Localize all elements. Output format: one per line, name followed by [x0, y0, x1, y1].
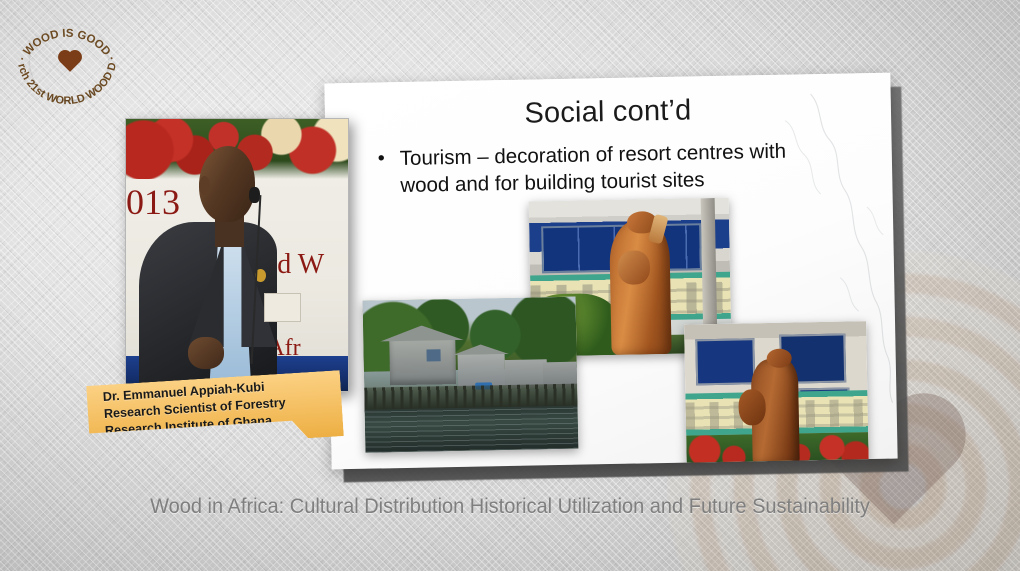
- presentation-footer-title: Wood in Africa: Cultural Distribution Hi…: [36, 494, 985, 519]
- slide-bullet-text: Tourism – decoration of resort centres w…: [400, 137, 839, 200]
- speaker-photo[interactable]: 013 World W posiu in Afr: [125, 118, 349, 392]
- slide-bullet-item: • Tourism – decoration of resort centres…: [378, 137, 839, 200]
- bullet-marker-icon: •: [378, 145, 386, 172]
- speaker-hand: [188, 337, 224, 370]
- backdrop-line-1: 013: [126, 181, 180, 223]
- photo-wooden-statue-mother-and-children[interactable]: [684, 321, 869, 469]
- photo-content: [363, 297, 579, 453]
- video-frame: · WOOD IS GOOD · March 21st WORLD WOOD D…: [0, 0, 1020, 571]
- water-ripples: [365, 406, 579, 453]
- photo-content: [684, 321, 869, 469]
- heart-icon: [60, 50, 80, 69]
- name-badge: [264, 293, 302, 322]
- statue-child: [738, 389, 766, 426]
- stilt-house: [389, 339, 456, 386]
- presentation-slide[interactable]: Social cont’d • Tourism – decoration of …: [324, 73, 897, 470]
- building-window: [695, 338, 754, 385]
- world-wood-day-logo: · WOOD IS GOOD · March 21st WORLD WOOD D…: [8, 6, 124, 116]
- photo-stilt-houses-over-water[interactable]: [363, 297, 579, 453]
- statue-baby: [618, 250, 651, 285]
